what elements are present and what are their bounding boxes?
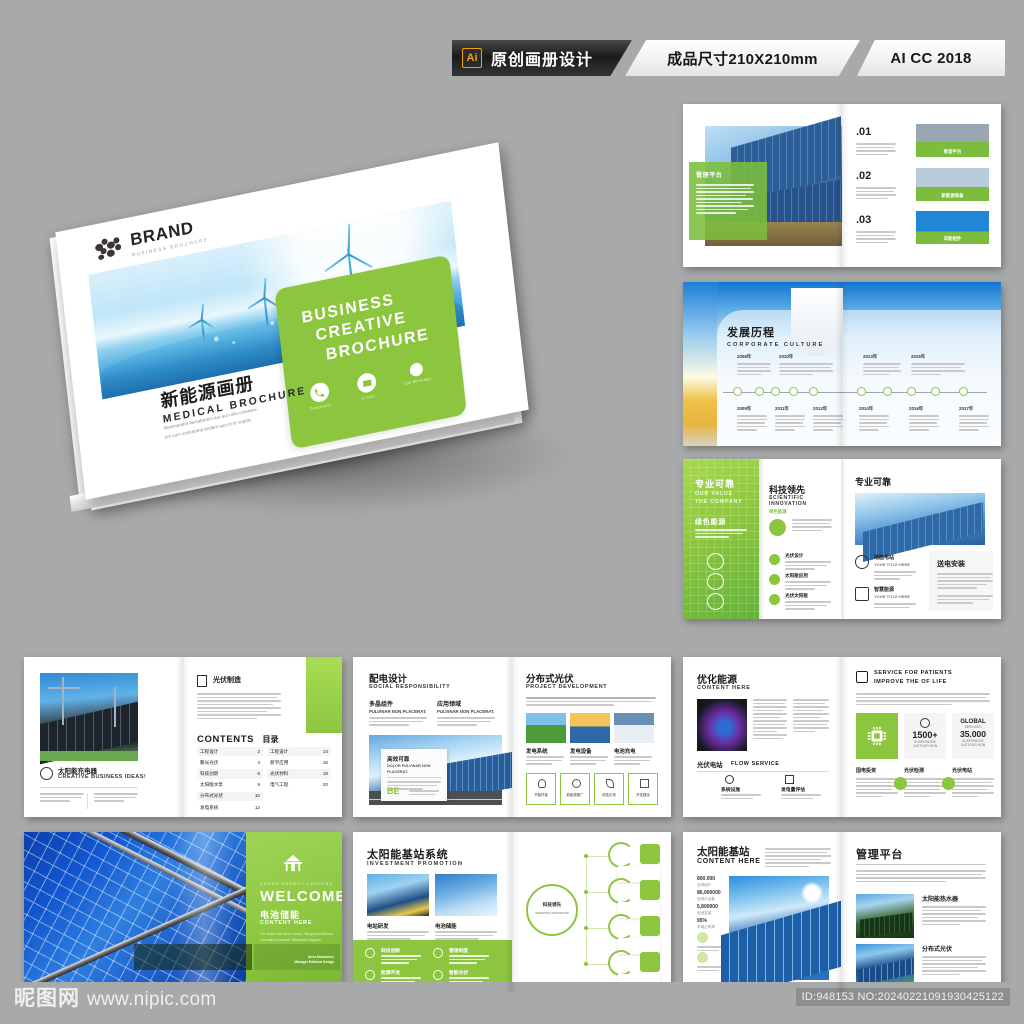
page-left: 太阳能充电器 CREATIVE BUSINESS IDEAS! [24,657,183,817]
contents-row[interactable]: 工程设计14 [267,747,331,756]
spread-base-station-platform[interactable]: 太阳能基站 CONTENT HERE 800.000 全球用户 86,00000… [683,832,1001,992]
sp2-year-top-1: 2008年 [737,354,773,375]
sp1-item-2-body [856,187,896,199]
contact-qq-label: QQ Message [404,376,431,385]
watermark: 昵图网 www.nipic.com [14,988,217,1009]
sp1-item-3-num: .03 [856,214,896,226]
sp8-title-cn: 太阳能基站系统 [367,846,448,862]
page-right: 分布式光伏 PROJECT DEVELOPMENT 发电系统 发电设备 电池充电… [512,657,671,817]
sp1-item-2-image: 新能源装备 [916,168,989,201]
contents-row[interactable]: 太阳能水泵8 [197,781,263,790]
trophy-icon [640,916,660,936]
chat-icon [40,767,53,780]
sp7-green-panel: GREEN ENERGY LEADERS WELCOME 电池储能 CONTEN… [246,832,342,992]
sp3-green-panel: 专业可靠 OUR VALUE THE COMPANY 绿色能源 [683,459,759,619]
sp3-mid-tag: 绿色能源 [769,509,787,515]
sp6-cpu-chip [856,713,898,759]
sp8-photo-2 [435,874,497,916]
cover-brand-block: BRAND BUSINESS BROCHURE [129,216,208,257]
gear-icon [572,779,581,788]
sp2-year-top-3: 2013年 [863,354,903,375]
sp3-right-box-title: 送电安装 [937,559,965,569]
leaf-icon [606,779,614,788]
spread-contents[interactable]: 太阳能充电器 CREATIVE BUSINESS IDEAS! 光伏制造 CON… [24,657,342,817]
spread-our-value-trifold[interactable]: 专业可靠 OUR VALUE THE COMPANY 绿色能源 科技领先 SCI… [683,459,1001,619]
contact-qq: QQ Message [402,360,432,391]
page-fold [841,459,846,619]
sp1-left-card-title: 管理平台 [696,170,758,179]
sp5-col2-en: PULVINAR NON PLACERAT. [437,709,494,714]
sp8-hub-en: SCIENTIFIC INNOVATION [528,911,576,915]
page-right: 光伏制造 CONTENTS 目录 工程设计2 聚光光伏4 科技创新6 太阳能水泵… [183,657,342,817]
sp7-subtitle: CONTENT HERE [260,920,312,926]
sp1-item-1-image: 智造平台 [916,124,989,157]
sp4-photo [40,673,138,761]
sp9-photo [729,876,829,980]
cover-green-panel: BUSINESS CREATIVE BROCHURE Telephone E-m… [274,254,467,449]
sp6-right-title-2: IMPROVE THE OF LIFE [874,679,947,685]
sp5-icon-box-3[interactable]: 科技引领 [594,773,624,805]
network-icon [365,948,375,958]
sp4-contents-cn: 目录 [263,735,279,744]
stethoscope-icon [856,671,868,683]
recycle-icon [769,519,786,536]
chart-icon [785,775,794,784]
sp5-right-card-3-title: 电池充电 [614,747,636,755]
user-icon [538,779,546,788]
sp1-item-1: .01 [856,126,896,155]
sp8-photo-1 [367,874,429,916]
sp6-stat-1-value: 1500+ [904,730,946,740]
sp2-year-bottom-2: 2011年 [775,406,807,431]
sp5-card-image-1 [526,713,566,743]
cpu-icon [866,725,888,747]
sp9-left-title-cn: 太阳能基站 [697,844,750,859]
hourglass-icon [197,675,207,687]
sp5-right-title-en: PROJECT DEVELOPMENT [526,684,607,690]
chart-icon [640,880,660,900]
sp5-card-en1: DOLOR PULVINAR NON [387,764,430,768]
settings-icon [365,970,375,980]
contents-row[interactable]: 工程设计2 [197,747,263,756]
sp6-flow-cn: 光伏电站 [697,760,723,769]
adobe-illustrator-icon: Ai [462,48,482,68]
cover-mockup: BRAND BUSINESS BROCHURE [20,165,670,495]
page-right: .01 智造平台 .02 新能源装备 .03 风能组件 [842,104,1001,267]
sp2-title-en: CORPORATE CULTURE [727,342,824,348]
sp6-left-title-cn: 优化能源 [697,671,737,686]
sp3-right-image [855,493,985,545]
sp7-title-en: WELCOME [260,888,342,905]
sp8-title-en: INVESTMENT PROMOTION [367,861,463,867]
link-icon [894,777,907,790]
page-left: 管理平台 [683,104,842,267]
sp5-icon-box-2[interactable]: 新能源推广 [560,773,590,805]
sp6-right-title-1: SERVICE FOR PATIENTS [874,670,952,676]
tag-original-design: Ai 原创画册设计 [452,40,632,76]
sp1-item-1-body [856,143,896,155]
sp9-left-title-en: CONTENT HERE [697,858,761,865]
sp1-item-3-body [856,231,896,243]
sp6-bottom-1: 国电投资 [856,767,898,797]
sp5-col2-cn: 应用领域 [437,699,461,708]
sp7-signature-box: Anna Mornurens Manager Editorial Design [254,944,340,970]
spread-optimize-energy[interactable]: 优化能源 CONTENT HERE 光伏电站 FLOW SERVICE 系统设施… [683,657,1001,817]
trophy-icon [855,587,869,601]
search-icon [707,553,724,570]
sp1-item-2-num: .02 [856,170,896,182]
globe-icon [920,718,930,728]
page-left: 太阳能基站 CONTENT HERE 800.000 全球用户 86,00000… [683,832,842,992]
sp3-right-item-2-en: YOUR TITLE HERE [874,594,910,599]
watermark-url: www.nipic.com [87,990,217,1009]
sp1-left-card: 管理平台 [696,170,758,214]
sp2-year-bottom-4: 2014年 [859,406,891,431]
link-icon [942,777,955,790]
sp8-hub-cn: 科技领先 [528,902,576,908]
contact-email-label: E-mail [361,394,375,401]
share-icon [433,948,443,958]
sp3-mid-item-3: 光伏太阳能 [785,593,808,599]
book-icon [640,779,649,788]
sp5-card-en2: PLACERAT. [387,770,408,774]
spread-welcome[interactable]: GREEN ENERGY LEADERS WELCOME 电池储能 CONTEN… [24,832,342,992]
sp2-year-bottom-6: 2017年 [959,406,991,431]
sp9-stat-4: 95% 市场占有率 [697,918,715,930]
sp4-photo-caption-en: CREATIVE BUSINESS IDEAS! [58,774,146,780]
sp4-contents-en: CONTENTS [197,734,254,745]
contents-row[interactable]: 电气工程20 [267,781,331,790]
page-right: 科技领先 SCIENTIFIC INNOVATION [512,832,671,992]
doc-icon [640,844,660,864]
contact-email: E-mail [356,371,378,401]
watermark-cn: 昵图网 [14,988,80,1009]
sp7-body: The charts are serial branch, Hangzhou K… [260,932,334,944]
sp1-item-2-caption: 新能源装备 [916,193,989,199]
sp5-card-cn: 高效可靠 [387,755,409,763]
sp6-left-title-en: CONTENT HERE [697,685,751,691]
page-left: 优化能源 CONTENT HERE 光伏电站 FLOW SERVICE 系统设施… [683,657,842,817]
contents-row[interactable]: 聚光光伏4 [197,758,263,767]
brand-logo-icon [94,235,126,263]
tag-original-design-label: 原创画册设计 [491,46,593,70]
sp5-left-title-cn: 配电设计 [369,671,407,685]
sp5-col1-en: PULVINAR NON PLACERAT. [369,709,426,714]
sp6-bottom-3: 光伏电站 [952,767,994,797]
sp9-stat-3: 5,800000 电池容量 [697,904,718,916]
sp7-kicker: GREEN ENERGY LEADERS [260,882,333,886]
page-left: 太阳能基站系统 INVESTMENT PROMOTION 电站研发 电池储能 科… [353,832,512,992]
page-fold [759,459,764,619]
sp6-photo [697,699,747,751]
sp6-bottom-2: 光伏检测 [904,767,946,797]
sp4-green-accent [306,657,342,733]
sp9-article-1-image [856,894,914,938]
spread-base-station-system[interactable]: 太阳能基站系统 INVESTMENT PROMOTION 电站研发 电池储能 科… [353,832,671,992]
bridge-icon [282,854,304,872]
sp9-article-2-image [856,944,914,986]
sp5-card: 高效可靠 DOLOR PULVINAR NON PLACERAT. BE [381,749,447,801]
sp4-contents-list-right: 工程设计14 新学应用16 光伏材料18 电气工程20 [267,747,331,790]
sp5-card-mark: BE [387,786,400,796]
sp1-item-3: .03 [856,214,896,243]
sp8-cap1: 电站研发 [367,922,389,930]
sp5-left-title-en: SOCIAL RESPONSIBILITY [369,684,450,690]
leaf-icon [769,594,780,605]
sp9-article-1-title: 太阳能热水器 [922,894,958,903]
sp9-right-title: 管理平台 [856,846,903,862]
sp6-stat-2: GLOBAL SERVICES 35.000 SUSPENDISE JUSTOU… [952,713,994,759]
tag-ai-version-label: AI CC 2018 [890,50,971,67]
sun-icon [769,574,780,585]
sp2-title-cn: 发展历程 [727,324,824,340]
sp3-panel-title-en2: THE COMPANY [695,499,743,505]
tag-ai-version: AI CC 2018 [857,40,1005,76]
sp3-right-panel: 专业可靠 地面电站 YOUR TITLE HERE 智慧能源 YOUR TITL… [841,459,1001,619]
sp3-right-box: 送电安装 [929,551,993,611]
sp4-contents-list-left: 工程设计2 聚光光伏4 科技创新6 太阳能水泵8 分布式光伏10 发电系统12 [197,747,263,812]
image-id-badge: ID:948153 NO:20240221091930425122 [796,988,1010,1006]
tag-finished-size-label: 成品尺寸210X210mm [667,48,818,69]
sp7-dark-overlay [134,944,252,970]
qq-icon [409,362,423,378]
sp9-stat-2: 86,000000 全球平台数 [697,890,721,902]
sp2-year-top-2: 2010年 [779,354,835,375]
sp1-item-3-image: 风能组件 [916,211,989,244]
sp6-stat-1: 1500+ SUSPENDISE JUSTOUR NON [904,713,946,759]
sp9-article-2-title: 分布式光伏 [922,944,952,953]
contents-row[interactable]: 分布式光伏10 [197,792,263,801]
node-icon [433,970,443,980]
sp3-panel-title-cn: 专业可靠 [695,477,735,490]
sp4-section-title: 光伏制造 [213,675,241,685]
sp5-right-title-cn: 分布式光伏 [526,671,574,685]
sp2-year-bottom-5: 2016年 [909,406,941,431]
contents-row[interactable]: 新学应用16 [267,758,331,767]
page-right: 管理平台 太阳能热水器 分布式光伏 [842,832,1001,992]
footer-watermark-bar: 昵图网 www.nipic.com ID:948153 NO:202402210… [0,982,1024,1024]
sp3-right-item-1-cn: 地面电站 [874,554,894,561]
sp2-title-block: 发展历程 CORPORATE CULTURE [727,324,824,348]
header-ribbon: Ai 原创画册设计 成品尺寸210X210mm AI CC 2018 [0,38,1024,80]
sp3-right-item-2-cn: 智慧能源 [874,586,894,593]
sp3-right-item-1-en: YOUR TITLE HERE [874,562,910,567]
sp5-right-card-2-title: 发电设备 [570,747,592,755]
sp3-middle-panel: 科技领先 SCIENTIFIC INNOVATION 绿色能源 光伏设计 太阳能… [759,459,841,619]
sp6-stat-2-value: 35.000 [952,729,994,739]
sp3-mid-item-1: 光伏设计 [785,553,803,559]
leaf-icon [707,573,724,590]
sp1-item-3-caption: 风能组件 [916,236,989,242]
sp5-card-image-2 [570,713,610,743]
sp5-icon-box-4[interactable]: 开发建设 [628,773,658,805]
spread-solar-numbered[interactable]: 管理平台 .01 智造平台 .02 新能源装备 [683,104,1001,267]
sp2-year-bottom-1: 2009年 [737,406,769,431]
sp2-year-top-4: 2015年 [911,354,967,375]
sp3-panel-sub: 绿色能源 [695,517,726,527]
sp1-item-1-num: .01 [856,126,896,138]
tag-finished-size: 成品尺寸210X210mm [625,40,860,76]
contents-row[interactable]: 发电系统12 [197,803,263,812]
sp5-icon-box-1[interactable]: 节能环保 [526,773,556,805]
sp6-flow-item-2: 发电量评估 [781,786,805,793]
sp8-hub: 科技领先 SCIENTIFIC INNOVATION [526,884,578,936]
sp3-panel-title-en1: OUR VALUE [695,491,733,497]
badge-icon [697,952,708,963]
sp6-flow-item-1: 系统设施 [721,786,740,793]
globe-icon [855,555,869,569]
sp3-mid-title-en: SCIENTIFIC INNOVATION [769,495,841,507]
sp9-stat-1: 800.000 全球用户 [697,876,715,888]
sp1-item-2: .02 [856,170,896,199]
cover-green-title: BUSINESS CREATIVE BROCHURE [301,284,431,370]
sp5-card-image-3 [614,713,654,743]
contents-row[interactable]: 光伏材料18 [267,769,331,778]
sp2-year-bottom-3: 2012年 [813,406,845,431]
search-icon [769,554,780,565]
bulb-icon [707,593,724,610]
sp8-cap2: 电池储能 [435,922,457,930]
gear-icon [640,952,660,972]
wind-icon [725,775,734,784]
sp1-left-card-body [696,184,758,214]
sp5-col1-cn: 多晶组件 [369,699,393,708]
sp3-mid-item-2: 太阳能应用 [785,573,808,579]
spread-distribution[interactable]: 配电设计 SOCIAL RESPONSIBILITY 多晶组件 PULVINAR… [353,657,671,817]
sp3-right-title: 专业可靠 [855,475,891,488]
mail-icon [356,371,377,394]
contents-row[interactable]: 科技创新6 [197,769,263,778]
page-left: 配电设计 SOCIAL RESPONSIBILITY 多晶组件 PULVINAR… [353,657,512,817]
badge-icon [697,932,708,943]
sp1-item-1-caption: 智造平台 [916,149,989,155]
page-right: SERVICE FOR PATIENTS IMPROVE THE OF LIFE… [842,657,1001,817]
sp5-right-card-1-title: 发电系统 [526,747,548,755]
spread-corporate-timeline[interactable]: 发展历程 CORPORATE CULTURE 2008年 2010年 2013年… [683,282,1001,446]
sp6-flow-en: FLOW SERVICE [731,761,779,767]
